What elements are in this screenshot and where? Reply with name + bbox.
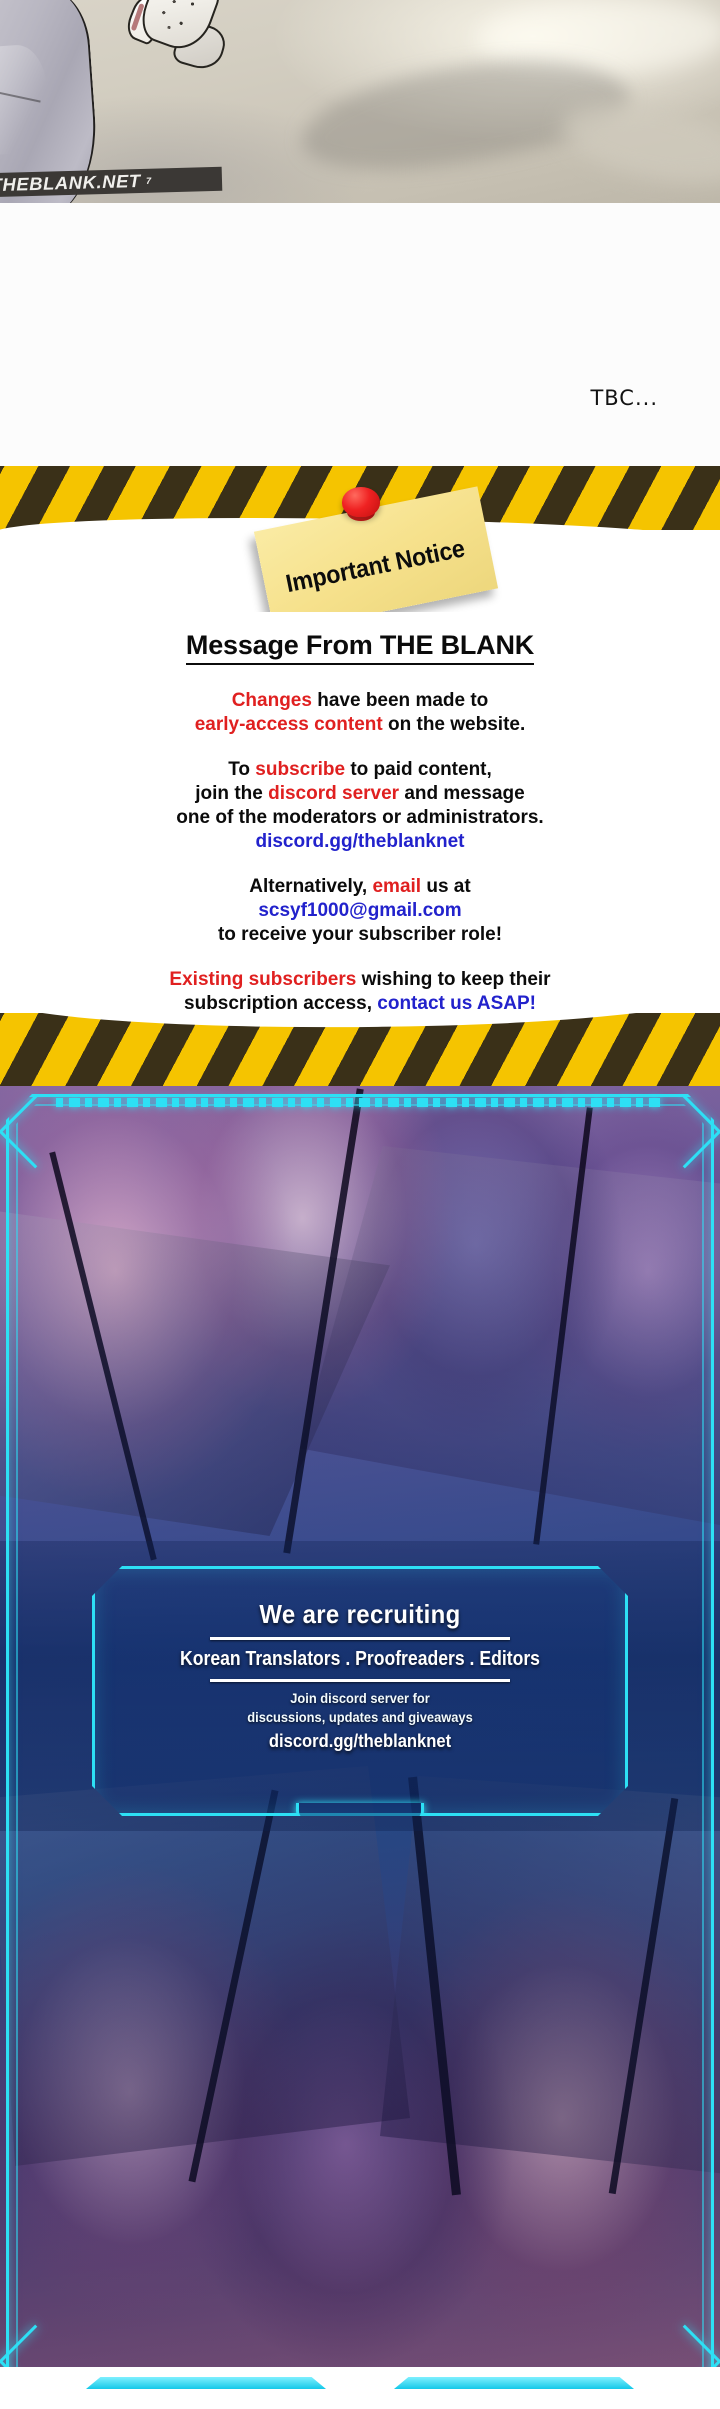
recruiting-subtitle-line2: discussions, updates and giveaways bbox=[116, 1708, 604, 1727]
watermark-superscript: 7 bbox=[140, 176, 152, 186]
divider-rule bbox=[210, 1679, 510, 1682]
notice-link-text[interactable]: discord.gg/theblanknet bbox=[255, 831, 464, 852]
notice-heading: Message From THE BLANK bbox=[186, 630, 534, 665]
pushpin-head bbox=[342, 487, 380, 517]
recruiting-title: We are recruiting bbox=[116, 1599, 604, 1630]
notice-highlight-text: discord server bbox=[268, 783, 399, 804]
recruiting-subtitle-line1: Join discord server for bbox=[116, 1689, 604, 1708]
hazard-stripe-band-bottom bbox=[0, 1013, 720, 1086]
footer-accent-bar-left bbox=[86, 2377, 326, 2389]
banner-dashed-top-bar bbox=[56, 1098, 664, 1107]
comic-artwork-panel: L THEBLANK.NET 7 bbox=[0, 0, 720, 203]
notice-section: Message From THE BLANK Changes have been… bbox=[0, 612, 720, 1002]
sticky-note-label: Important Notice bbox=[283, 533, 476, 599]
notice-text: one of the moderators or administrators. bbox=[176, 807, 543, 828]
notice-paragraph: To subscribe to paid content,join the di… bbox=[0, 758, 720, 854]
notice-text: on the website. bbox=[383, 714, 526, 735]
notice-text: us at bbox=[421, 876, 471, 897]
notice-highlight-text: subscribe bbox=[255, 759, 345, 780]
notice-message-body: Changes have been made toearly-access co… bbox=[0, 689, 720, 1016]
blank-panel: TBC... bbox=[0, 203, 720, 470]
notice-text: and message bbox=[399, 783, 525, 804]
notice-text: To bbox=[228, 759, 255, 780]
notice-highlight-text: email bbox=[372, 876, 421, 897]
footer-accent-bar-right bbox=[394, 2377, 634, 2389]
pushpin-icon bbox=[342, 487, 380, 521]
notice-text: Alternatively, bbox=[249, 876, 372, 897]
notice-highlight-text: early-access content bbox=[195, 714, 383, 735]
notice-highlight-text: Existing subscribers bbox=[169, 969, 356, 990]
notice-text: join the bbox=[195, 783, 268, 804]
site-watermark: L THEBLANK.NET 7 bbox=[0, 167, 222, 198]
divider-rule bbox=[210, 1637, 510, 1640]
tbc-text: TBC... bbox=[590, 386, 658, 410]
recruiting-roles: Korean Translators . Proofreaders . Edit… bbox=[127, 1648, 593, 1671]
notice-text: have been made to bbox=[312, 690, 488, 711]
notice-link-text[interactable]: contact us ASAP! bbox=[377, 993, 536, 1014]
notice-paragraph: Changes have been made toearly-access co… bbox=[0, 689, 720, 737]
notice-text: to paid content, bbox=[345, 759, 492, 780]
notice-text: to receive your subscriber role! bbox=[218, 924, 502, 945]
notice-paragraph: Existing subscribers wishing to keep the… bbox=[0, 968, 720, 1016]
cloth-fold-highlight bbox=[0, 43, 51, 156]
discord-invite-link[interactable]: discord.gg/theblanknet bbox=[116, 1731, 604, 1752]
recruiting-text-plate: We are recruiting Korean Translators . P… bbox=[92, 1566, 628, 1816]
watermark-text: THEBLANK.NET bbox=[0, 170, 141, 195]
notice-highlight-text: Changes bbox=[232, 690, 312, 711]
notice-link-text[interactable]: scsyf1000@gmail.com bbox=[258, 900, 461, 921]
notice-paragraph: Alternatively, email us atscsyf1000@gmai… bbox=[0, 875, 720, 947]
notice-text: wishing to keep their bbox=[356, 969, 550, 990]
recruiting-banner[interactable]: We are recruiting Korean Translators . P… bbox=[0, 1086, 720, 2409]
notice-text: subscription access, bbox=[184, 993, 377, 1014]
